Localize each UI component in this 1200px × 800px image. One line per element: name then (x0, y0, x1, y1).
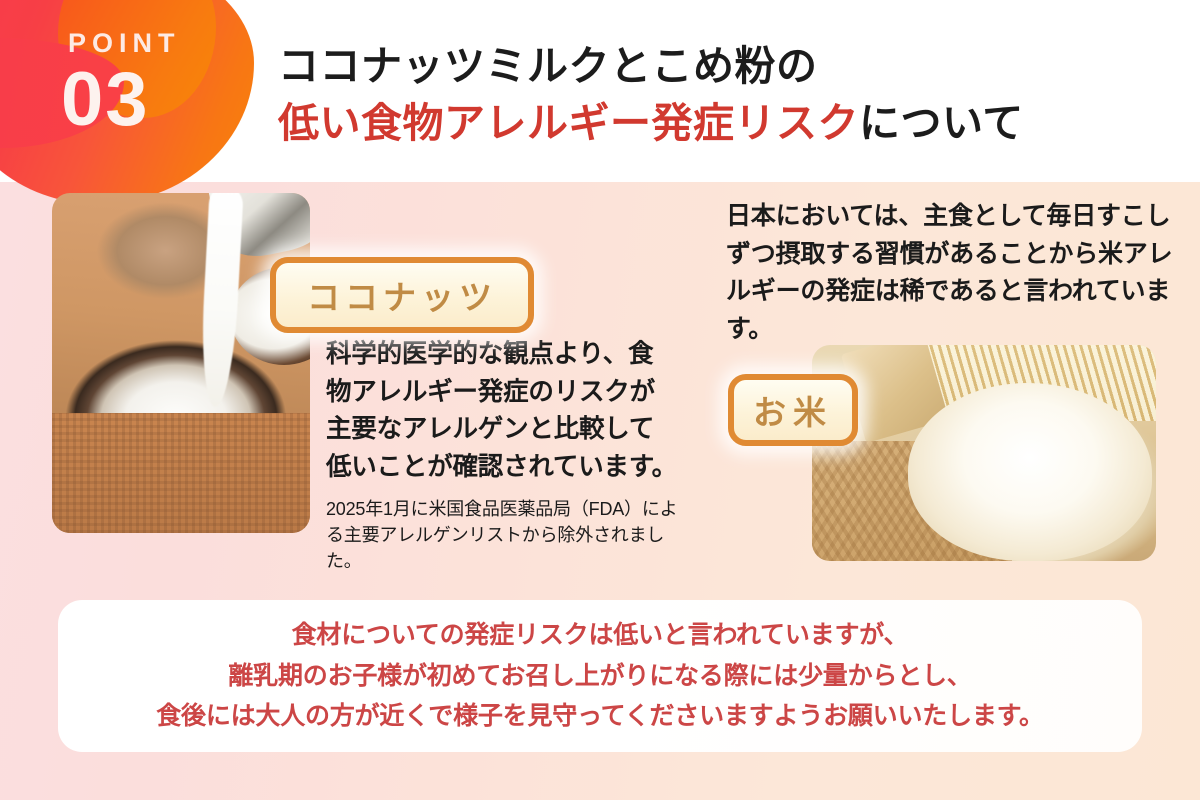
badge-rice-label: お米 (753, 386, 833, 434)
badge-coconut: ココナッツ (270, 257, 534, 333)
coconut-copy-block: 科学的医学的な観点より、食物アレルギー発症のリスクが主要なアレルゲンと比較して低… (326, 336, 678, 575)
rice-body-text: 日本においては、主食として毎日すこしずつ摂取する習慣があることから米アレルギーの… (726, 198, 1178, 348)
point-badge-label: POINT (68, 30, 181, 57)
headline-emphasis: 低い食物アレルギー発症リスク (278, 100, 859, 146)
coconut-photo (52, 193, 310, 533)
bottom-note-line-3: 食後には大人の方が近くで様子を見守ってくださいますようお願いいたします。 (156, 696, 1044, 737)
bottom-note-line-2: 離乳期のお子様が初めてお召し上がりになる際には少量からとし、 (228, 656, 971, 697)
headline-line-2: 低い食物アレルギー発症リスクについて (278, 95, 1178, 152)
rice-photo (812, 345, 1156, 561)
coconut-body-text: 科学的医学的な観点より、食物アレルギー発症のリスクが主要なアレルゲンと比較して低… (326, 336, 678, 487)
slide-root: POINT 03 ココナッツミルクとこめ粉の 低い食物アレルギー発症リスクについ… (0, 0, 1200, 800)
page-title: ココナッツミルクとこめ粉の 低い食物アレルギー発症リスクについて (278, 38, 1178, 151)
badge-coconut-label: ココナッツ (307, 271, 497, 319)
coconut-note-text: 2025年1月に米国食品医薬品局（FDA）による主要アレルゲンリストから除外され… (326, 496, 678, 575)
point-badge-number: 03 (61, 62, 150, 138)
bottom-note-line-1: 食材についての発症リスクは低いと言われていますが、 (292, 615, 909, 656)
bottom-note-card: 食材についての発症リスクは低いと言われていますが、 離乳期のお子様が初めてお召し… (58, 600, 1142, 752)
headline-suffix: について (859, 100, 1024, 146)
headline-line-1: ココナッツミルクとこめ粉の (278, 38, 1178, 95)
badge-rice: お米 (728, 374, 858, 446)
rice-grain-pile (908, 383, 1152, 561)
coconut-milk-pour (198, 193, 243, 408)
coconut-mat-texture (52, 413, 310, 533)
